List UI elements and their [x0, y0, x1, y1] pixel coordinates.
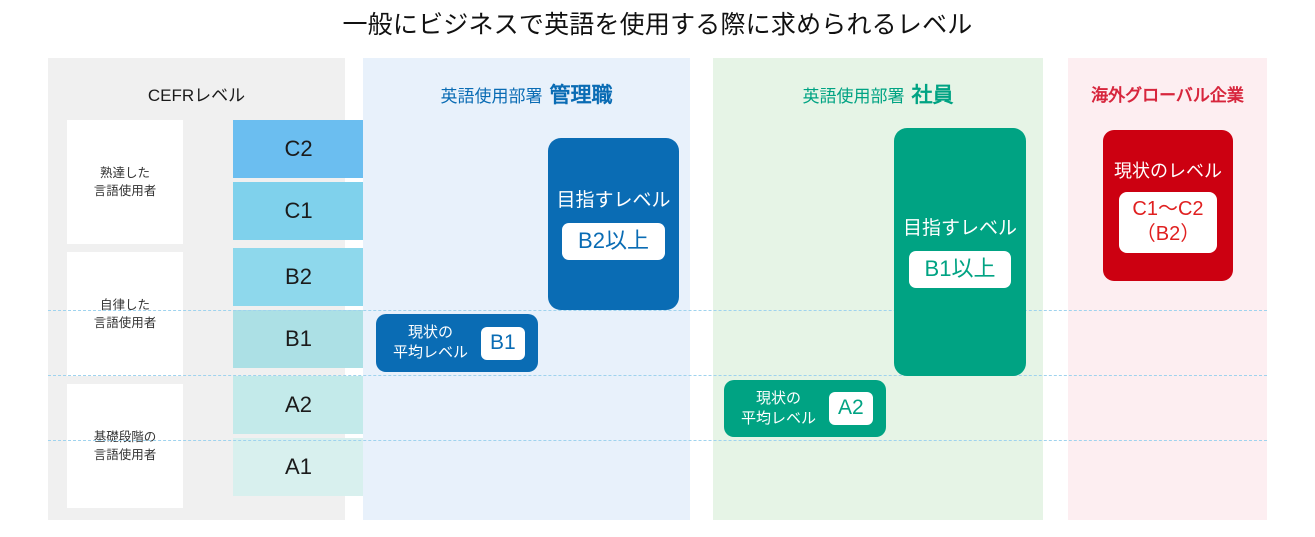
- gridline-b1: [48, 375, 1267, 376]
- cefr-group-line1: 基礎段階の: [94, 430, 157, 444]
- staff-current-label-line1: 現状の: [756, 390, 801, 407]
- global-current-level-box: 現状のレベル C1～C2 （B2）: [1103, 130, 1233, 281]
- panel-cefr-title: CEFRレベル: [48, 84, 345, 108]
- manager-current-label-line1: 現状の: [408, 324, 453, 341]
- global-current-label: 現状のレベル: [1114, 158, 1222, 184]
- panel-cefr-levels: CEFRレベル 熟達した 言語使用者 自律した 言語使用者 基礎段階の 言語使用…: [48, 58, 345, 520]
- global-current-value-main: C1～C2: [1132, 198, 1203, 220]
- global-current-value-sub: （B2）: [1132, 222, 1203, 247]
- cefr-level-bar-a1: A1: [233, 438, 364, 496]
- manager-current-level-badge: 現状の 平均レベル B1: [376, 314, 538, 372]
- panel-staff-title: 英語使用部署社員: [713, 84, 1043, 109]
- panel-manager-title: 英語使用部署管理職: [363, 84, 690, 109]
- gridline-a2: [48, 440, 1267, 441]
- staff-current-value: A2: [829, 392, 873, 425]
- gridline-b2: [48, 310, 1267, 311]
- page-title: 一般にビジネスで英語を使用する際に求められるレベル: [0, 8, 1315, 42]
- cefr-level-bar-b2: B2: [233, 248, 364, 306]
- cefr-group-basic: 基礎段階の 言語使用者: [67, 384, 183, 508]
- cefr-level-bar-c2: C2: [233, 120, 364, 178]
- panel-staff-role-label: 社員: [912, 84, 954, 107]
- staff-target-level-box: 目指すレベル B1以上: [894, 128, 1026, 376]
- global-current-value: C1～C2 （B2）: [1119, 192, 1216, 253]
- staff-target-label: 目指すレベル: [903, 216, 1017, 242]
- panel-global-title: 海外グローバル企業: [1068, 84, 1267, 108]
- cefr-level-bar-c1: C1: [233, 182, 364, 240]
- manager-target-level-box: 目指すレベル B2以上: [548, 138, 679, 310]
- panel-manager-role-label: 管理職: [550, 84, 613, 107]
- manager-current-label-line2: 平均レベル: [393, 344, 468, 361]
- staff-target-value: B1以上: [909, 251, 1012, 288]
- cefr-level-bar-b1: B1: [233, 310, 364, 368]
- panel-manager-dept-label: 英語使用部署: [441, 87, 543, 106]
- manager-current-label: 現状の 平均レベル: [393, 323, 468, 363]
- staff-current-label: 現状の 平均レベル: [741, 389, 816, 429]
- manager-current-value: B1: [481, 327, 525, 360]
- panel-global-companies: 海外グローバル企業: [1068, 58, 1267, 520]
- cefr-group-line2: 言語使用者: [94, 448, 157, 462]
- cefr-group-line1: 熟達した: [100, 166, 150, 180]
- cefr-group-line2: 言語使用者: [94, 184, 157, 198]
- cefr-group-line2: 言語使用者: [94, 316, 157, 330]
- staff-current-level-badge: 現状の 平均レベル A2: [724, 380, 886, 437]
- staff-current-label-line2: 平均レベル: [741, 410, 816, 427]
- manager-target-label: 目指すレベル: [556, 188, 670, 214]
- manager-target-value: B2以上: [562, 223, 665, 260]
- cefr-level-bar-a2: A2: [233, 376, 364, 434]
- cefr-group-independent: 自律した 言語使用者: [67, 252, 183, 376]
- cefr-group-proficient: 熟達した 言語使用者: [67, 120, 183, 244]
- cefr-group-list: 熟達した 言語使用者 自律した 言語使用者 基礎段階の 言語使用者: [67, 120, 183, 508]
- panel-staff-dept-label: 英語使用部署: [803, 87, 905, 106]
